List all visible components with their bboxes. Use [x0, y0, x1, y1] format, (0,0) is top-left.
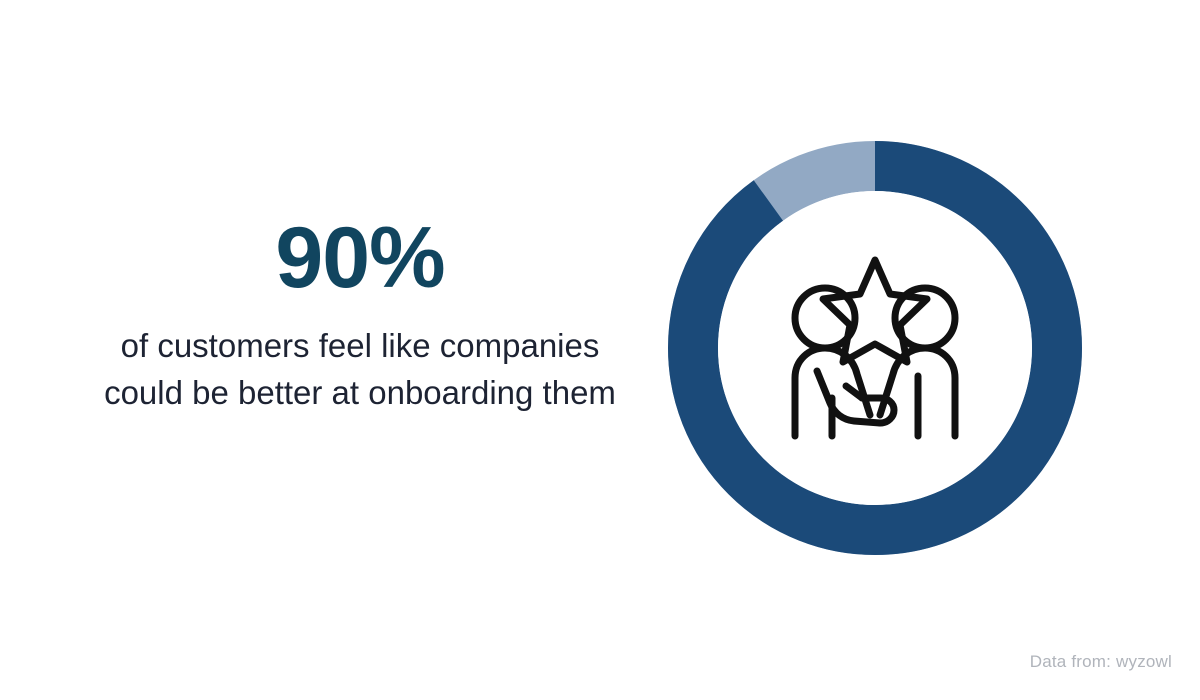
stat-percentage: 90%: [60, 215, 660, 301]
donut-chart: [668, 141, 1082, 555]
infographic-canvas: 90% of customers feel like companies cou…: [0, 0, 1200, 700]
source-attribution: Data from: wyzowl: [1030, 652, 1172, 672]
donut-center-disc: [718, 191, 1032, 505]
stat-block: 90% of customers feel like companies cou…: [60, 215, 660, 417]
stat-caption: of customers feel like companies could b…: [60, 323, 660, 417]
donut-chart-svg: [668, 141, 1082, 555]
